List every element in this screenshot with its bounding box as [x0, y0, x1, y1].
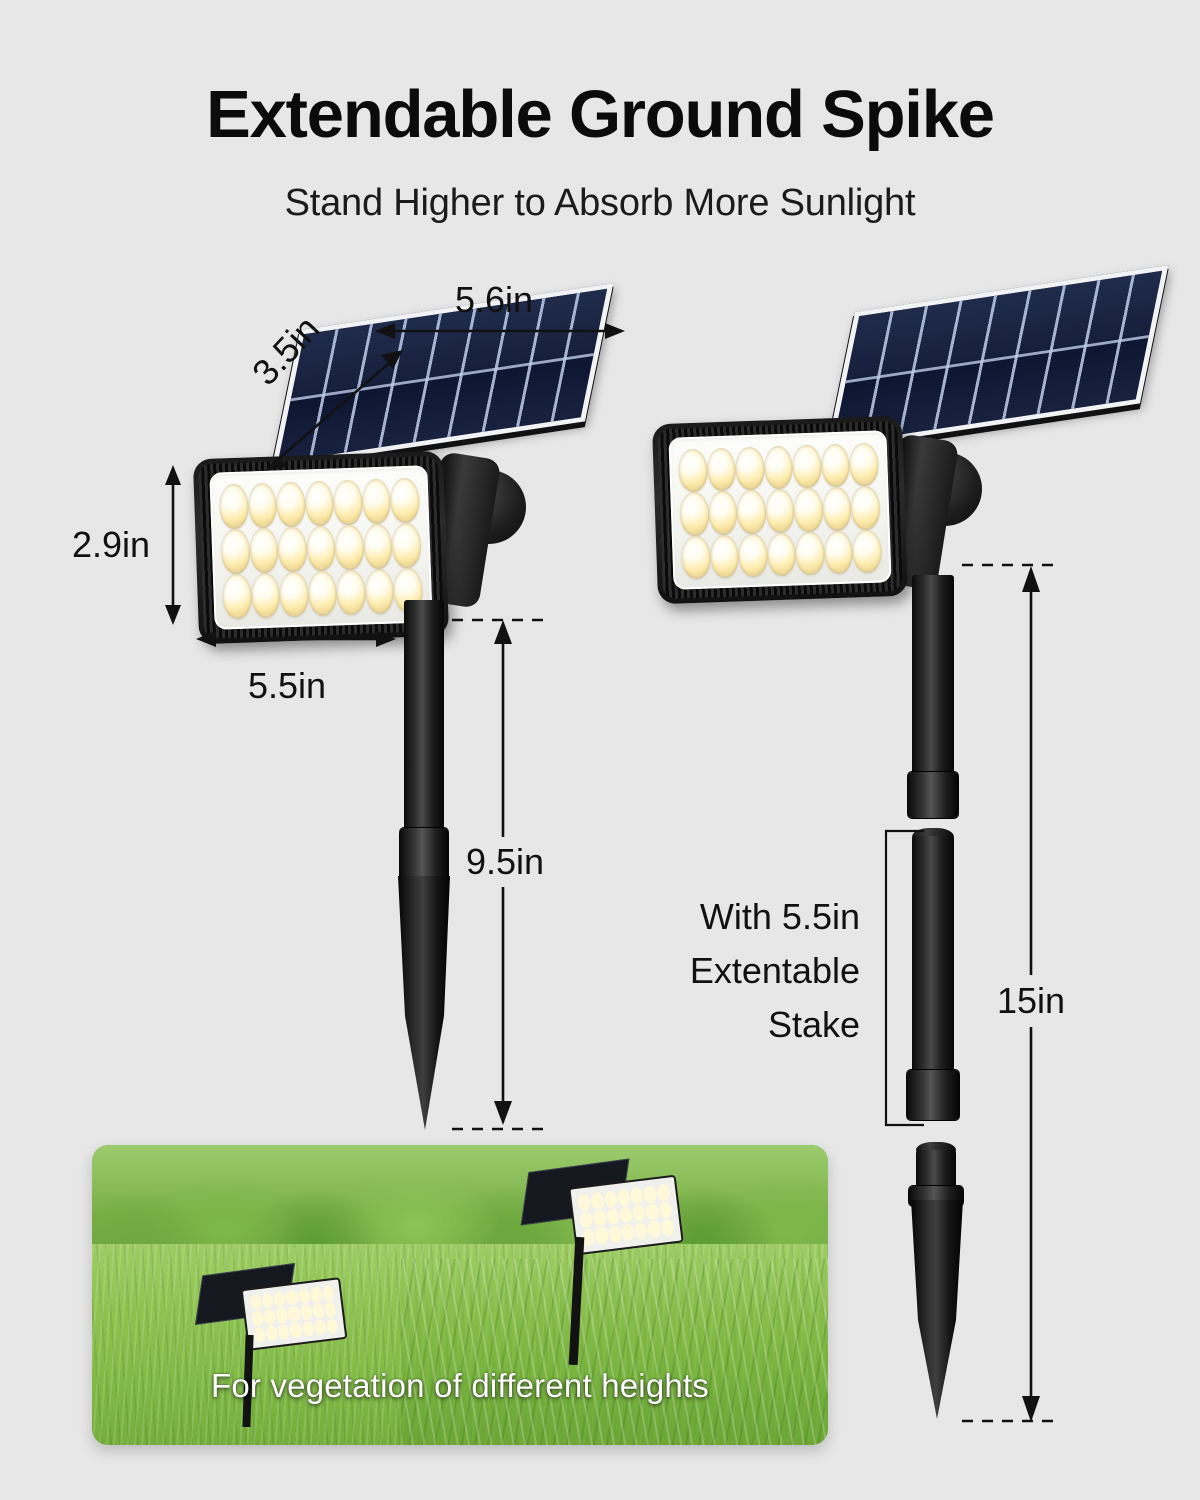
led — [708, 491, 738, 535]
left-led-grid — [219, 478, 424, 620]
left-dim-2_9in-label: 2.9in — [72, 524, 150, 566]
left-pole-collar — [399, 828, 449, 882]
led — [794, 488, 824, 532]
led — [335, 525, 365, 571]
led — [681, 535, 711, 579]
photo-caption: For vegetation of different heights — [92, 1367, 828, 1405]
led — [709, 534, 739, 578]
led — [247, 483, 277, 529]
photo-light-tall-pole — [569, 1237, 585, 1365]
right-head-face — [668, 430, 891, 590]
photo-light-short-head — [241, 1277, 348, 1351]
left-ground-spike — [392, 876, 456, 1134]
led — [735, 447, 765, 491]
led — [336, 569, 366, 615]
led — [736, 490, 766, 534]
led — [363, 524, 393, 570]
led — [706, 448, 736, 492]
led — [365, 568, 395, 614]
photo-light-short-leds — [249, 1285, 338, 1343]
led — [390, 478, 420, 524]
led — [678, 449, 708, 493]
led — [250, 572, 280, 618]
right-extension-bracket — [880, 828, 926, 1128]
left-dim-5_5in-arrow — [196, 626, 396, 652]
led — [765, 489, 795, 533]
led — [333, 480, 363, 526]
led — [767, 532, 797, 576]
left-product-illustration: 5.6in 3.5in 2.9in 5.5in — [0, 0, 640, 1160]
left-head-face — [209, 465, 432, 630]
led — [308, 570, 338, 616]
led — [220, 529, 250, 575]
right-dim-15in-label: 15in — [995, 975, 1067, 1027]
led — [304, 481, 334, 527]
right-pole-upper — [912, 575, 954, 780]
left-dim-9_5in-label: 9.5in — [466, 837, 544, 887]
photo-light-tall — [516, 1145, 686, 1367]
led — [763, 446, 793, 490]
led — [849, 443, 879, 487]
led — [249, 528, 279, 574]
infographic-stage: Extendable Ground Spike Stand Higher to … — [0, 0, 1200, 1500]
photo-light-tall-leds — [577, 1184, 675, 1247]
application-photo: For vegetation of different heights — [92, 1145, 828, 1445]
led — [222, 573, 252, 619]
led — [821, 444, 851, 488]
right-pole-collar-upper — [907, 772, 959, 818]
right-led-grid — [678, 443, 882, 580]
led — [361, 479, 391, 525]
led — [679, 492, 709, 536]
right-callout-text: With 5.5in Extentable Stake — [645, 890, 860, 1052]
led — [824, 530, 854, 574]
left-dim-5_5in-label: 5.5in — [248, 665, 326, 707]
led — [277, 527, 307, 573]
led — [392, 523, 422, 569]
led — [851, 486, 881, 530]
photo-light-short — [196, 1253, 366, 1433]
led — [822, 487, 852, 531]
led — [852, 529, 882, 573]
led — [306, 526, 336, 572]
led — [279, 571, 309, 617]
led — [276, 482, 306, 528]
left-dim-2_9in-arrow — [160, 465, 186, 625]
right-callout-line-2: Extentable — [645, 944, 860, 998]
right-led-head — [652, 416, 908, 605]
right-callout-line-3: Stake — [645, 998, 860, 1052]
led — [219, 484, 249, 530]
photo-light-tall-head — [568, 1175, 683, 1256]
right-callout-line-1: With 5.5in — [645, 890, 860, 944]
led — [738, 533, 768, 577]
led — [792, 445, 822, 489]
left-pole-upper — [404, 600, 444, 836]
left-dim-5_6in-label: 5.6in — [455, 279, 533, 321]
led — [795, 531, 825, 575]
